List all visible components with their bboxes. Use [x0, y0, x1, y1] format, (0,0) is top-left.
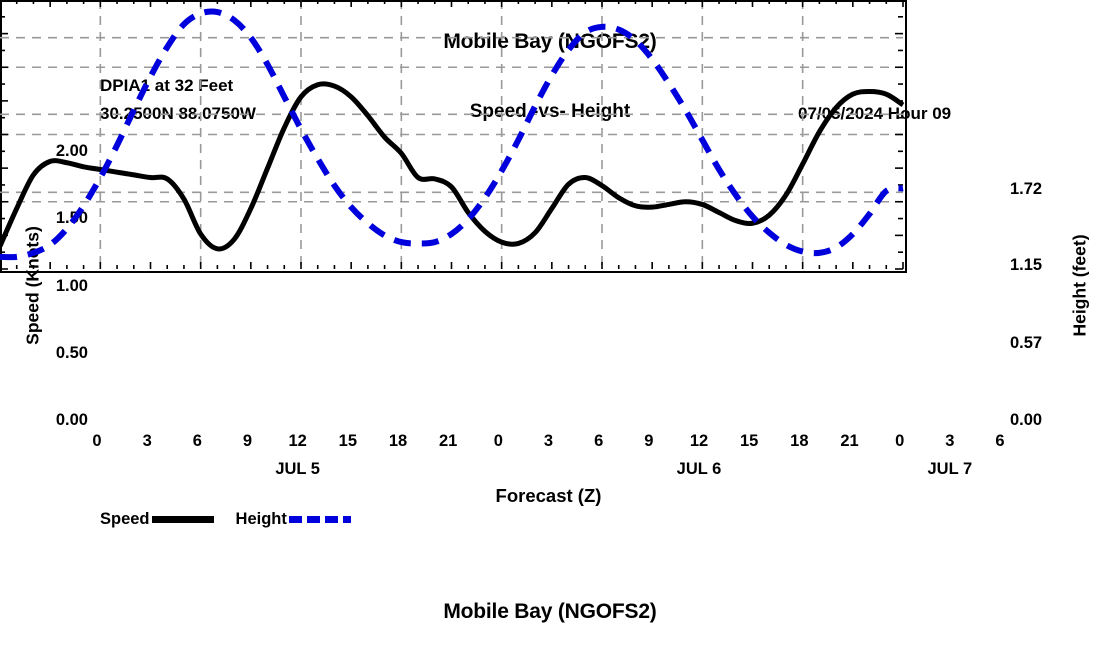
- page-title-bottom: Mobile Bay (NGOFS2): [0, 600, 1100, 624]
- x-axis-tick-label: 9: [243, 432, 252, 451]
- x-axis-tick-label: 0: [92, 432, 101, 451]
- x-axis-tick-label: 0: [494, 432, 503, 451]
- plot-area: [0, 0, 907, 273]
- x-axis-tick-label: 6: [995, 432, 1004, 451]
- x-axis-day-label: JUL 7: [928, 460, 973, 479]
- legend-label-speed: Speed: [100, 510, 150, 529]
- legend-swatch-height: [289, 516, 351, 523]
- x-axis-tick-label: 9: [644, 432, 653, 451]
- legend-swatch-speed: [152, 516, 214, 523]
- x-axis-tick-label: 15: [339, 432, 357, 451]
- x-axis-tick-label: 0: [895, 432, 904, 451]
- x-axis-tick-label: 18: [790, 432, 808, 451]
- y-axis-right-tick-label: 0.00: [1010, 411, 1042, 430]
- y-axis-right-tick-label: 0.57: [1010, 334, 1042, 353]
- y-axis-left-tick-label: 0.00: [56, 411, 88, 430]
- chart-legend: Speed Height: [100, 508, 373, 530]
- legend-label-height: Height: [236, 510, 287, 529]
- x-axis-tick-label: 18: [389, 432, 407, 451]
- x-axis-title: Forecast (Z): [97, 485, 1000, 507]
- x-axis-tick-label: 15: [740, 432, 758, 451]
- chart-page: Mobile Bay (NGOFS2) DPIA1 at 32 Feet 30.…: [0, 0, 1100, 650]
- x-axis-ticks: 036912151821036912151821036: [97, 432, 1000, 456]
- x-axis-day-label: JUL 5: [275, 460, 320, 479]
- x-axis-tick-label: 21: [439, 432, 457, 451]
- series-line-speed: [0, 84, 903, 249]
- y-axis-right-tick-label: 1.15: [1010, 256, 1042, 275]
- x-axis-tick-label: 12: [288, 432, 306, 451]
- legend-item-speed: Speed: [100, 510, 214, 529]
- x-axis-day-label: JUL 6: [677, 460, 722, 479]
- y-axis-left-tick-label: 1.00: [56, 277, 88, 296]
- x-axis-tick-label: 6: [594, 432, 603, 451]
- x-axis-tick-label: 3: [143, 432, 152, 451]
- y-axis-right-ticks: 0.000.571.151.72: [1010, 153, 1070, 422]
- x-axis-day-labels: JUL 5JUL 6JUL 7: [97, 460, 1000, 484]
- series-line-height: [0, 12, 903, 258]
- series-layer: [0, 0, 903, 269]
- y-axis-right-title: Height (feet): [1070, 191, 1091, 381]
- y-axis-right-tick-label: 1.72: [1010, 180, 1042, 199]
- legend-item-height: Height: [236, 510, 351, 529]
- x-axis-tick-label: 6: [193, 432, 202, 451]
- x-axis-tick-label: 3: [945, 432, 954, 451]
- x-axis-tick-label: 21: [840, 432, 858, 451]
- x-axis-tick-label: 12: [690, 432, 708, 451]
- x-axis-tick-label: 3: [544, 432, 553, 451]
- y-axis-left-tick-label: 0.50: [56, 344, 88, 363]
